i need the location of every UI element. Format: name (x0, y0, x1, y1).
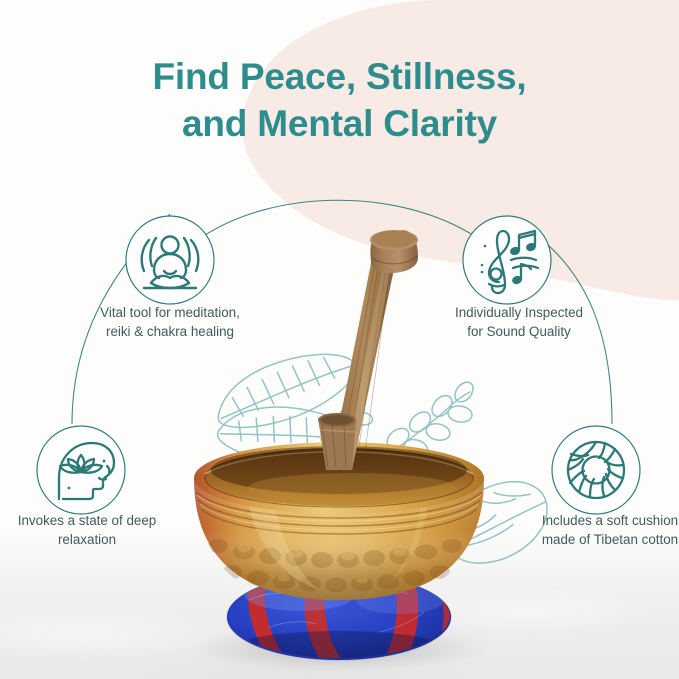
cushion-ring-icon (552, 426, 640, 514)
head-lotus-icon (37, 426, 125, 514)
lotus-meditation-icon (126, 216, 214, 304)
page-title: Find Peace, Stillness, and Mental Clarit… (0, 53, 679, 148)
page-title-line1: Find Peace, Stillness, (153, 56, 527, 97)
feature-label-sound-quality: Individually Inspected for Sound Quality (448, 303, 590, 342)
page-title-line2: and Mental Clarity (0, 100, 679, 147)
feature-label-relaxation: Invokes a state of deep relaxation (16, 511, 158, 550)
product-infographic: Find Peace, Stillness, and Mental Clarit… (0, 0, 679, 679)
music-notes-icon (463, 216, 551, 304)
feature-label-meditation: Vital tool for meditation, reiki & chakr… (99, 303, 241, 342)
feature-label-cushion: Includes a soft cushion made of Tibetan … (536, 511, 679, 550)
surface-texture (0, 529, 679, 679)
